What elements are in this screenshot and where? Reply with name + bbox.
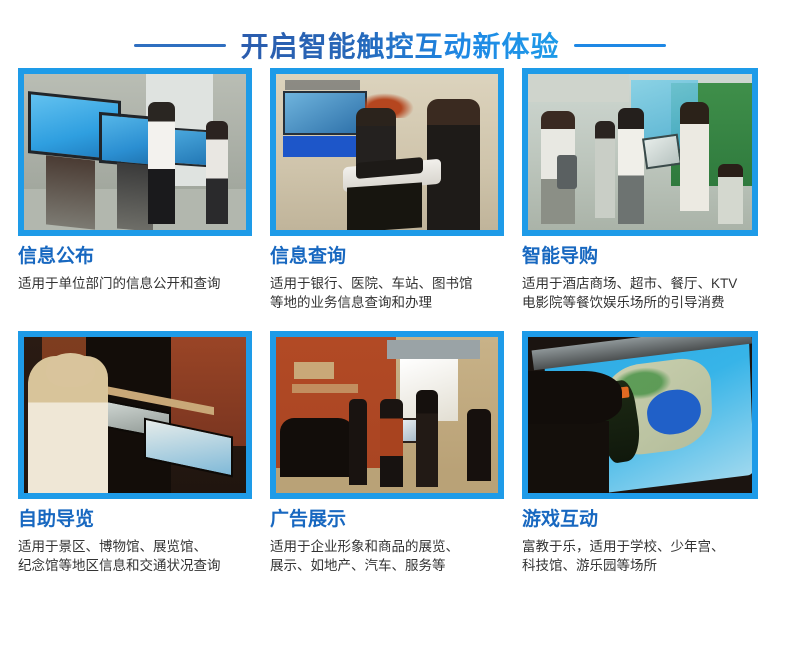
page-title: 开启智能触控互动新体验	[240, 25, 559, 65]
feature-desc-self-guided-tour: 适用于景区、博物馆、展览馆、 纪念馆等地区信息和交通状况查询	[18, 537, 252, 576]
feature-image-game-interaction	[522, 331, 758, 499]
promo-page: 开启智能触控互动新体验 信息公布 适用于单位部门的信息公开和查询	[0, 0, 800, 672]
page-header: 开启智能触控互动新体验	[0, 0, 800, 62]
scene-touch-kiosk-hall	[24, 74, 246, 230]
feature-desc-advertising-display: 适用于企业形象和商品的展览、 展示、如地产、汽车、服务等	[270, 537, 504, 576]
decorative-line-left-icon	[134, 44, 226, 47]
feature-card-self-guided-tour[interactable]: 自助导览 适用于景区、博物馆、展览馆、 纪念馆等地区信息和交通状况查询	[18, 331, 252, 576]
feature-card-game-interaction[interactable]: 游戏互动 富教于乐，适用于学校、少年宫、 科技馆、游乐园等场所	[522, 331, 758, 576]
feature-card-advertising-display[interactable]: 广告展示 适用于企业形象和商品的展览、 展示、如地产、汽车、服务等	[270, 331, 504, 576]
feature-title-game-interaction: 游戏互动	[522, 510, 758, 531]
feature-desc-info-publish: 适用于单位部门的信息公开和查询	[18, 274, 252, 294]
scene-shopping-mall-guide	[528, 74, 752, 230]
decorative-line-right-icon	[574, 44, 666, 47]
feature-desc-smart-shopping-guide: 适用于酒店商场、超市、餐厅、KTV 电影院等餐饮娱乐场所的引导消费	[522, 274, 758, 313]
feature-title-advertising-display: 广告展示	[270, 510, 504, 531]
feature-image-advertising-display	[270, 331, 504, 499]
feature-image-smart-shopping-guide	[522, 68, 758, 236]
feature-card-smart-shopping-guide[interactable]: 智能导购 适用于酒店商场、超市、餐厅、KTV 电影院等餐饮娱乐场所的引导消费	[522, 68, 758, 313]
feature-card-info-query[interactable]: 信息查询 适用于银行、医院、车站、图书馆 等地的业务信息查询和办理	[270, 68, 504, 313]
feature-title-smart-shopping-guide: 智能导购	[522, 247, 758, 268]
feature-image-info-query	[270, 68, 504, 236]
feature-desc-game-interaction: 富教于乐，适用于学校、少年宫、 科技馆、游乐园等场所	[522, 537, 758, 576]
feature-image-info-publish	[18, 68, 252, 236]
feature-desc-info-query: 适用于银行、医院、车站、图书馆 等地的业务信息查询和办理	[270, 274, 504, 313]
feature-card-info-publish[interactable]: 信息公布 适用于单位部门的信息公开和查询	[18, 68, 252, 313]
feature-grid: 信息公布 适用于单位部门的信息公开和查询 信息查询 适用于银行、医院、车站、图书…	[0, 68, 800, 576]
scene-museum-self-service-terminal	[24, 337, 246, 493]
feature-image-self-guided-tour	[18, 331, 252, 499]
feature-title-info-publish: 信息公布	[18, 247, 252, 268]
scene-bank-counter-touch-table	[276, 74, 498, 230]
feature-title-info-query: 信息查询	[270, 247, 504, 268]
feature-title-self-guided-tour: 自助导览	[18, 510, 252, 531]
scene-exhibition-booth-display	[276, 337, 498, 493]
scene-interactive-game-table	[528, 337, 752, 493]
